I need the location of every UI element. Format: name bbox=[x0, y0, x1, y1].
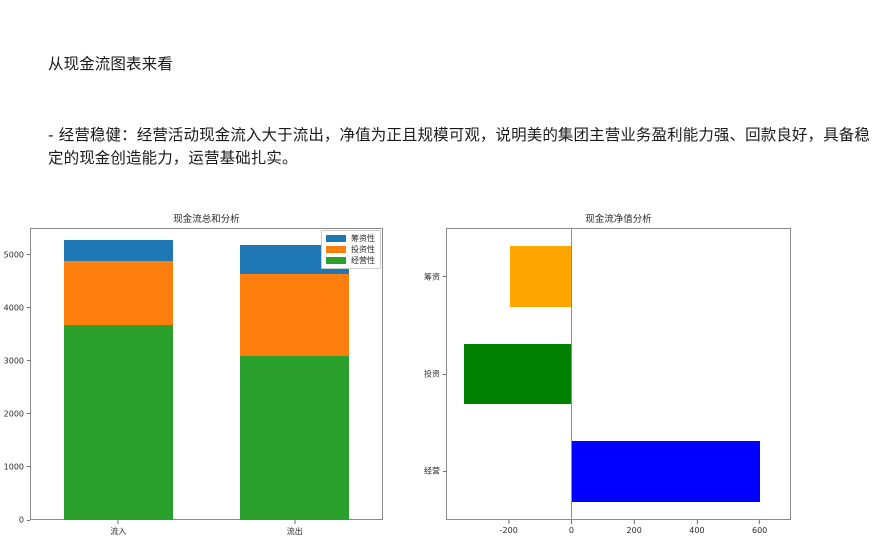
zero-reference-line bbox=[571, 228, 573, 520]
legend-total: 筹资性投资性经营性 bbox=[321, 230, 381, 269]
screenshot-root: 从现金流图表来看 - 经营稳健：经营活动现金流入大于流出，净值为正且规模可观，说… bbox=[0, 0, 883, 535]
y-tick-label: 5000 bbox=[4, 250, 30, 259]
legend-label: 筹资性 bbox=[351, 234, 375, 243]
y-tick-label: 2000 bbox=[4, 409, 30, 418]
legend-swatch-icon bbox=[326, 257, 346, 264]
chart-title-net: 现金流净值分析 bbox=[446, 211, 791, 225]
narrative-line-operating: - 经营稳健：经营活动现金流入大于流出，净值为正且规模可观，说明美的集团主营业务… bbox=[48, 124, 878, 171]
legend-item[interactable]: 筹资性 bbox=[326, 234, 375, 243]
legend-item[interactable]: 经营性 bbox=[326, 256, 375, 265]
stacked-bar-outflow bbox=[240, 228, 349, 520]
legend-item[interactable]: 投资性 bbox=[326, 245, 375, 254]
x-tick-label: -200 bbox=[500, 520, 518, 535]
y-tick-label: 筹资 bbox=[424, 271, 446, 282]
narrative-heading: 从现金流图表来看 bbox=[48, 53, 878, 77]
x-tick-label: 0 bbox=[569, 520, 574, 535]
chart-cash-flow-total: 现金流总和分析 010002000300040005000 流入流出 筹资性投资… bbox=[30, 228, 383, 520]
x-tick-label: 流出 bbox=[287, 520, 303, 537]
net-bar-投资 bbox=[464, 344, 572, 404]
y-tick-label: 经营 bbox=[424, 466, 446, 477]
bar-segment bbox=[64, 261, 173, 325]
bar-segment bbox=[64, 240, 173, 261]
stacked-bar-inflow bbox=[64, 228, 173, 520]
legend-label: 经营性 bbox=[351, 256, 375, 265]
x-tick-label: 流入 bbox=[110, 520, 126, 537]
legend-label: 投资性 bbox=[351, 245, 375, 254]
y-tick-label: 0 bbox=[19, 516, 30, 525]
x-tick-label: 200 bbox=[627, 520, 642, 535]
y-tick-label: 1000 bbox=[4, 462, 30, 471]
net-bar-筹资 bbox=[510, 246, 571, 306]
legend-swatch-icon bbox=[326, 235, 346, 242]
bar-segment bbox=[64, 325, 173, 520]
chart-cash-flow-net: 现金流净值分析 经营投资筹资 -2000200400600 bbox=[446, 228, 791, 520]
y-tick-label: 投资 bbox=[424, 369, 446, 380]
chart-title-total: 现金流总和分析 bbox=[30, 211, 383, 225]
y-tick-label: 3000 bbox=[4, 356, 30, 365]
y-tick-label: 4000 bbox=[4, 303, 30, 312]
bar-segment bbox=[240, 356, 349, 520]
legend-swatch-icon bbox=[326, 246, 346, 253]
x-tick-label: 400 bbox=[689, 520, 704, 535]
net-bar-经营 bbox=[571, 441, 759, 501]
x-tick-label: 600 bbox=[752, 520, 767, 535]
figure-area: 现金流总和分析 010002000300040005000 流入流出 筹资性投资… bbox=[0, 205, 883, 535]
bar-segment bbox=[240, 274, 349, 355]
